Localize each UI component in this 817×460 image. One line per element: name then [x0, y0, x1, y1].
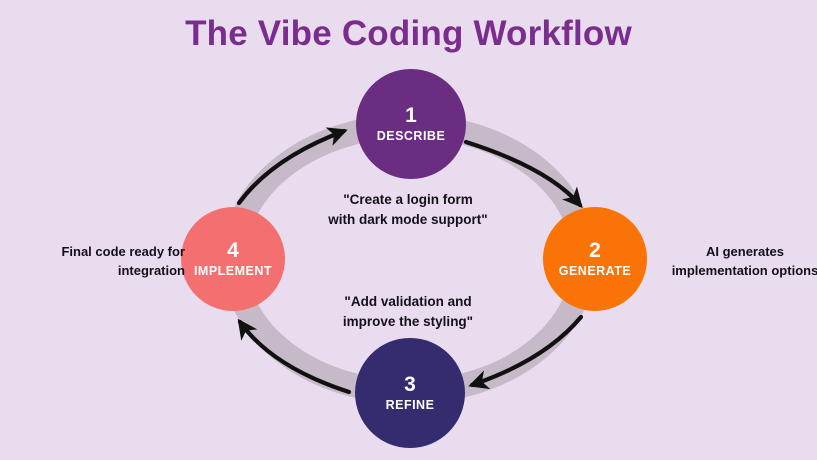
note-line-1: "Create a login form [298, 190, 518, 210]
note-line-2: improve the styling" [298, 312, 518, 332]
center-note-refine-prompt: "Add validation and improve the styling" [298, 292, 518, 331]
cycle-node-refine[interactable] [355, 338, 465, 448]
note-line-1: Final code ready for [5, 243, 185, 262]
cycle-node-implement[interactable] [181, 207, 285, 311]
workflow-cycle-diagram [0, 0, 817, 460]
note-line-2: integration [5, 262, 185, 281]
note-line-2: implementation options [655, 262, 817, 281]
note-line-1: "Add validation and [298, 292, 518, 312]
cycle-node-describe[interactable] [356, 69, 466, 179]
center-note-describe-prompt: "Create a login form with dark mode supp… [298, 190, 518, 229]
note-line-1: AI generates [655, 243, 817, 262]
cycle-node-generate[interactable] [543, 207, 647, 311]
note-line-2: with dark mode support" [298, 210, 518, 230]
side-note-implement: Final code ready for integration [5, 243, 185, 281]
infographic-canvas: The Vibe Coding Workflow 1 DESCRIBE 2 GE… [0, 0, 817, 460]
side-note-generate: AI generates implementation options [655, 243, 817, 281]
